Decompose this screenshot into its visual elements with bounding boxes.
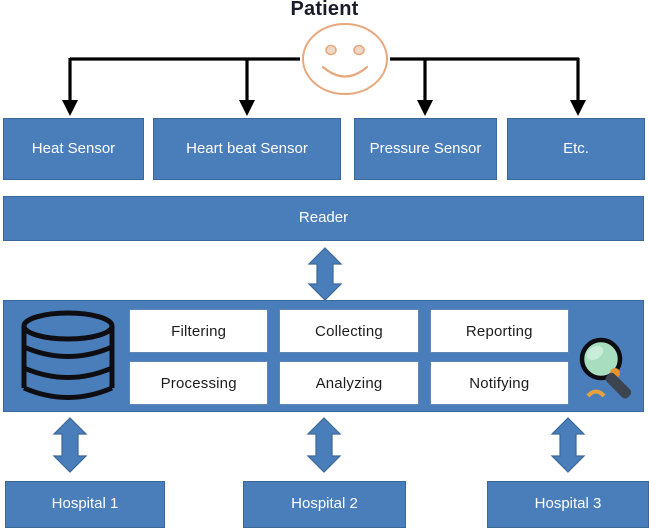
sensor-box-heartbeat[interactable]: Heart beat Sensor [153, 118, 341, 180]
sensor-label: Heat Sensor [32, 140, 115, 159]
server-panel: Filtering Collecting Reporting Processin… [3, 300, 644, 412]
function-label: Analyzing [316, 375, 383, 392]
hospital-box-1[interactable]: Hospital 1 [5, 481, 165, 528]
hospital-label: Hospital 2 [291, 495, 358, 514]
function-label: Filtering [171, 323, 226, 340]
function-grid: Filtering Collecting Reporting Processin… [129, 309, 569, 405]
function-box-collecting[interactable]: Collecting [279, 309, 418, 353]
function-box-reporting[interactable]: Reporting [430, 309, 569, 353]
sensor-box-etc[interactable]: Etc. [507, 118, 645, 180]
diagram-canvas: Patient [0, 0, 649, 530]
reader-label: Reader [299, 209, 348, 228]
function-label: Processing [161, 375, 237, 392]
function-label: Reporting [466, 323, 533, 340]
hospital-label: Hospital 3 [535, 495, 602, 514]
reader-server-double-arrow [309, 248, 341, 300]
smiley-face-icon [299, 22, 391, 96]
function-label: Notifying [469, 375, 529, 392]
magnifying-glass-icon [576, 333, 644, 405]
hospital-box-3[interactable]: Hospital 3 [487, 481, 649, 528]
sensor-label: Etc. [563, 140, 589, 159]
function-box-analyzing[interactable]: Analyzing [279, 361, 418, 405]
sensor-box-heat[interactable]: Heat Sensor [3, 118, 144, 180]
reader-bar[interactable]: Reader [3, 196, 644, 241]
server-hospital-double-arrows [54, 418, 584, 472]
function-label: Collecting [315, 323, 383, 340]
hospital-box-2[interactable]: Hospital 2 [243, 481, 406, 528]
function-box-notifying[interactable]: Notifying [430, 361, 569, 405]
function-box-filtering[interactable]: Filtering [129, 309, 268, 353]
function-box-processing[interactable]: Processing [129, 361, 268, 405]
sensor-label: Pressure Sensor [370, 140, 482, 159]
sensor-label: Heart beat Sensor [186, 140, 308, 159]
database-cylinder-icon [18, 308, 118, 406]
page-title: Patient [0, 0, 649, 21]
hospital-label: Hospital 1 [52, 495, 119, 514]
sensor-box-pressure[interactable]: Pressure Sensor [354, 118, 497, 180]
